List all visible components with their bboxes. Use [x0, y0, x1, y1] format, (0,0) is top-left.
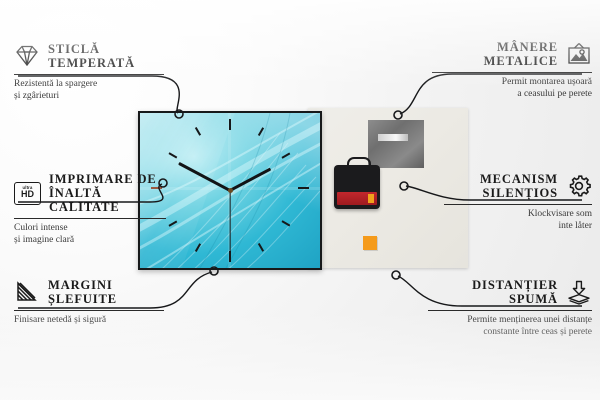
callout-title: STICLĂ	[48, 42, 135, 56]
callout-title-2: ȘLEFUITE	[48, 292, 117, 306]
callout-sub-2: constante între ceas și perete	[428, 327, 592, 339]
callout-title-2: SILENȚIOS	[480, 186, 558, 200]
metal-hanger-plate	[368, 120, 424, 168]
callout-sub: Klockvisare som	[444, 209, 592, 221]
divider	[444, 204, 592, 205]
divider	[14, 310, 164, 311]
clock-movement	[334, 165, 380, 209]
callout-sub-2: inte låter	[444, 221, 592, 233]
callout-handles: MÂNERE METALICE Permit montarea ușoară a…	[432, 40, 592, 100]
divider	[432, 72, 592, 73]
callout-title: DISTANȚIER	[472, 278, 558, 292]
ultra-hd-badge-icon: ultra HD	[14, 182, 41, 205]
callout-edges: MARGINI ȘLEFUITE Finisare netedă și sigu…	[14, 278, 164, 327]
second-hand	[229, 190, 230, 252]
callout-title-2: TEMPERATĂ	[48, 56, 135, 70]
hand-pin	[228, 188, 233, 193]
product-image	[138, 108, 468, 273]
callout-title-2: ÎNALTĂ CALITATE	[49, 186, 166, 214]
foam-spacer-arrow-icon	[566, 280, 592, 304]
callout-title: MÂNERE	[484, 40, 558, 54]
callout-mechanism: MECANISM SILENȚIOS Klockvisare som inte …	[444, 172, 592, 232]
callout-sub: Culori intense	[14, 223, 166, 235]
infographic-canvas: STICLĂ TEMPERATĂ Rezistentă la spargere …	[0, 0, 600, 400]
callout-sub: Finisare netedă și sigură	[14, 315, 164, 327]
tick-12	[229, 119, 231, 130]
callout-sub-2: și imagine clară	[14, 235, 166, 247]
callout-title-2: METALICE	[484, 54, 558, 68]
battery	[337, 192, 377, 205]
gear-icon	[566, 174, 592, 198]
callout-sub: Permite menținerea unei distanțe	[428, 315, 592, 327]
callout-title: MECANISM	[480, 172, 558, 186]
polished-edge-icon	[14, 280, 40, 304]
tick-3	[298, 187, 309, 189]
badge-hd-label: HD	[21, 190, 34, 200]
movement-hanger-loop	[347, 157, 371, 169]
callout-title-2: SPUMĂ	[472, 292, 558, 306]
divider	[14, 74, 164, 75]
callout-spacer: DISTANȚIER SPUMĂ Permite menținerea unei…	[428, 278, 592, 338]
diamond-icon	[14, 44, 40, 68]
divider	[14, 218, 166, 219]
callout-sub: Permit montarea ușoară	[432, 77, 592, 89]
divider	[428, 310, 592, 311]
callout-sub-2: și zgârieturi	[14, 91, 164, 103]
callout-title: MARGINI	[48, 278, 117, 292]
callout-sub-2: a ceasului pe perete	[432, 89, 592, 101]
hanging-frame-icon	[566, 42, 592, 66]
callout-title: IMPRIMARE DE	[49, 172, 166, 186]
callout-print: ultra HD IMPRIMARE DE ÎNALTĂ CALITATE Cu…	[14, 172, 166, 246]
callout-sub: Rezistentă la spargere	[14, 79, 164, 91]
callout-glass: STICLĂ TEMPERATĂ Rezistentă la spargere …	[14, 42, 164, 102]
foam-spacer-pad	[363, 236, 377, 250]
